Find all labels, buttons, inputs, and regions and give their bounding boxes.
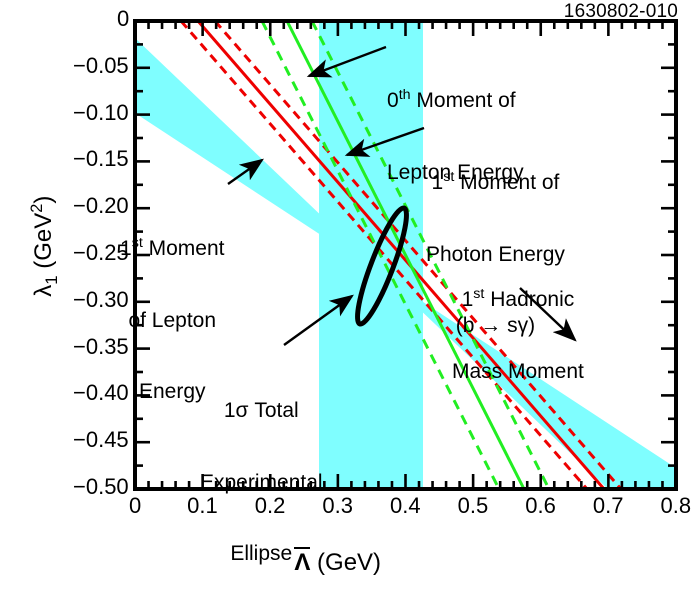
y-axis-symbol: λ — [30, 285, 57, 297]
y-tick-label-0: 0 — [117, 6, 129, 32]
anno-photon-post: Moment of — [454, 171, 559, 194]
x-axis-symbol: Λ — [294, 547, 310, 576]
anno-lepton-post: Moment — [143, 237, 225, 260]
anno-hadronic-sup: st — [473, 286, 484, 302]
x-tick-label-6: 0.6 — [525, 493, 556, 519]
plot-id-label: 1630802-010 — [564, 1, 678, 23]
y-tick-label-10: −0.50 — [73, 474, 129, 500]
y-axis-title: λ1 (GeV2) — [0, 178, 62, 328]
x-tick-label-3: 0.3 — [322, 493, 353, 519]
anno-hadronic-pre: 1 — [462, 288, 474, 311]
y-axis-unit-exponent: 2 — [28, 204, 46, 213]
anno-lepton-sup: st — [132, 235, 143, 251]
anno-ellipse-line2: Experimental — [200, 471, 323, 495]
y-tick-label-2: −0.10 — [73, 100, 129, 126]
anno-0th-pre: 0 — [387, 89, 399, 112]
x-axis-title: Λ (GeV) — [281, 521, 381, 577]
x-tick-label-4: 0.4 — [390, 493, 421, 519]
anno-ellipse-line1: 1σ Total — [200, 399, 323, 423]
x-tick-label-5: 0.5 — [458, 493, 489, 519]
x-tick-label-2: 0.2 — [255, 493, 286, 519]
y-tick-label-7: −0.35 — [73, 334, 129, 360]
anno-0th-post: Moment of — [411, 89, 516, 112]
y-tick-label-4: −0.20 — [73, 193, 129, 219]
x-tick-label-1: 0.1 — [187, 493, 218, 519]
y-tick-label-1: −0.05 — [73, 53, 129, 79]
anno-photon-sup: st — [443, 169, 454, 185]
y-tick-label-6: −0.30 — [73, 287, 129, 313]
physics-constraint-plot — [0, 0, 692, 554]
y-tick-label-9: −0.45 — [73, 427, 129, 453]
x-tick-label-8: 0.8 — [661, 493, 692, 519]
anno-lepton-line2: of Lepton — [120, 309, 225, 333]
y-axis-unit: (GeV — [30, 213, 57, 276]
y-axis-subscript: 1 — [42, 275, 61, 284]
x-axis-unit: (GeV) — [310, 549, 381, 576]
y-tick-label-8: −0.40 — [73, 380, 129, 406]
anno-0th-sup: th — [399, 87, 411, 103]
x-tick-label-0: 0 — [129, 493, 141, 519]
annotation-1st-hadronic-mass-moment: 1st Hadronic Mass Moment — [452, 239, 584, 407]
y-tick-label-5: −0.25 — [73, 240, 129, 266]
x-tick-label-7: 0.7 — [593, 493, 624, 519]
y-axis-unit-close: ) — [30, 196, 57, 204]
anno-photon-pre: 1 — [432, 171, 444, 194]
anno-hadronic-post: Hadronic — [484, 288, 574, 311]
y-tick-label-3: −0.15 — [73, 146, 129, 172]
anno-hadronic-line2: Mass Moment — [452, 360, 584, 384]
